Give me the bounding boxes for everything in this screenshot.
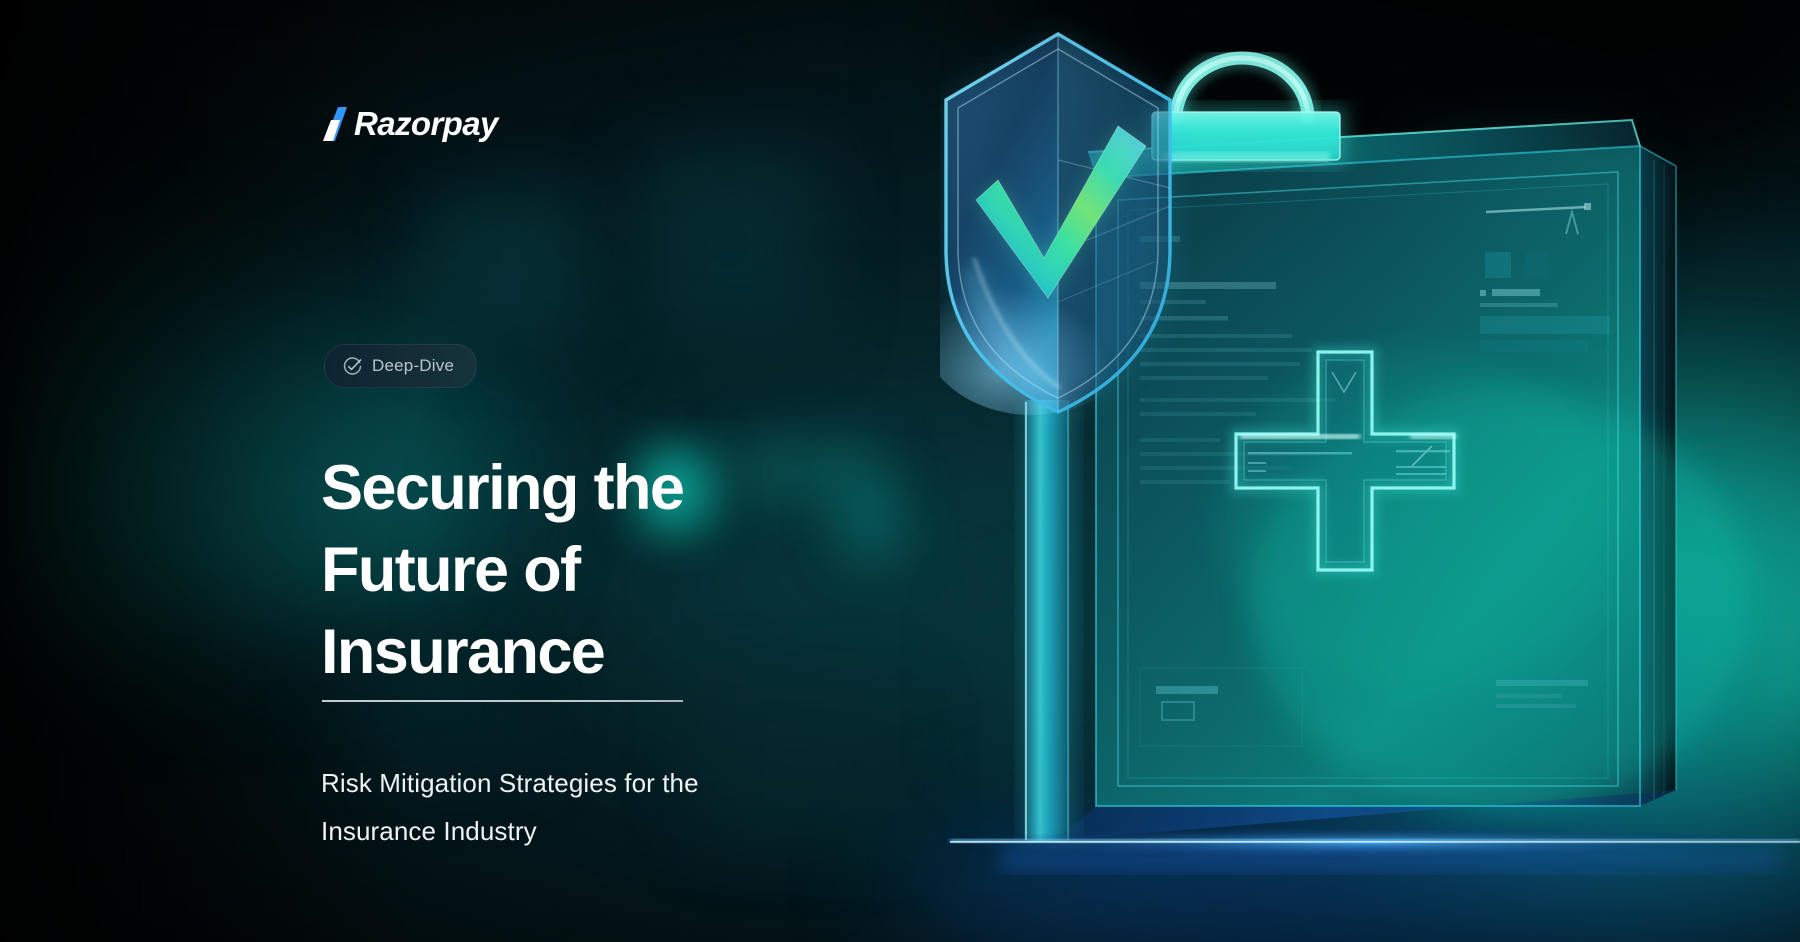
razorpay-logo[interactable]: Razorpay — [321, 103, 498, 145]
subtitle-line-2: Insurance Industry — [321, 807, 841, 855]
circle-check-icon — [343, 357, 362, 376]
headline-line-3: Insurance — [321, 611, 1021, 693]
subtitle-line-1: Risk Mitigation Strategies for the — [321, 759, 841, 807]
headline-line-2: Future of — [321, 529, 1021, 611]
hero-banner: Razorpay Deep-Dive Securing the Future o… — [0, 0, 1800, 942]
razorpay-logo-text: Razorpay — [354, 107, 498, 141]
deep-dive-badge[interactable]: Deep-Dive — [324, 344, 477, 388]
page-subtitle: Risk Mitigation Strategies for the Insur… — [321, 759, 841, 855]
headline-line-1: Securing the — [321, 447, 1021, 529]
title-divider — [322, 700, 683, 702]
hero-content: Razorpay Deep-Dive Securing the Future o… — [321, 0, 1081, 942]
deep-dive-badge-label: Deep-Dive — [372, 356, 454, 376]
page-title: Securing the Future of Insurance — [321, 447, 1021, 693]
razorpay-logo-mark-icon — [321, 107, 351, 141]
